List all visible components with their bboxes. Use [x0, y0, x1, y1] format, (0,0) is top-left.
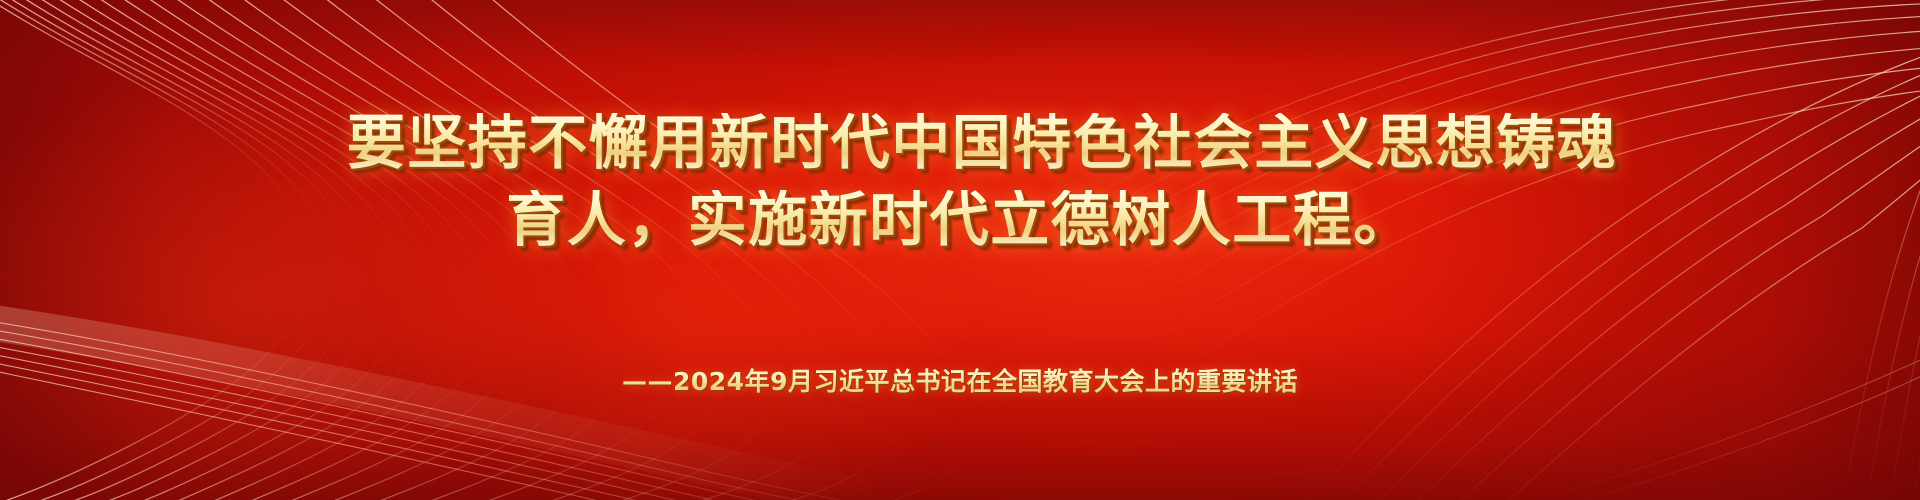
- propaganda-banner: 要坚持不懈用新时代中国特色社会主义思想铸魂 育人，实施新时代立德树人工程。 ——…: [0, 0, 1920, 500]
- headline-line-1: 要坚持不懈用新时代中国特色社会主义思想铸魂: [0, 113, 1920, 172]
- speech-attribution: ——2024年9月习近平总书记在全国教育大会上的重要讲话: [0, 362, 1920, 398]
- banner-text-block: 要坚持不懈用新时代中国特色社会主义思想铸魂 育人，实施新时代立德树人工程。 ——…: [0, 0, 1920, 500]
- headline-line-2: 育人，实施新时代立德树人工程。: [0, 190, 1920, 249]
